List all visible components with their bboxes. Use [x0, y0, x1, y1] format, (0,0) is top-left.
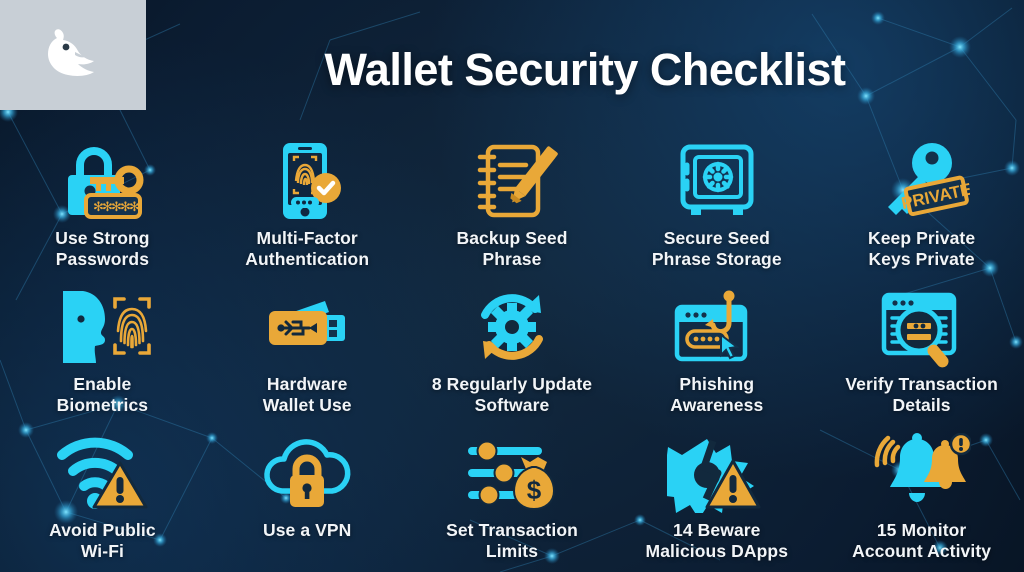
checklist-item-label: Secure Seed Phrase Storage [652, 228, 782, 271]
checklist-item-verify-transaction-details[interactable]: Verify Transaction Details [819, 280, 1024, 426]
checklist-item-monitor-account-activity[interactable]: 15 Monitor Account Activity [819, 426, 1024, 572]
checklist-item-label: Use Strong Passwords [55, 228, 149, 271]
checklist-item-set-transaction-limits[interactable]: $ Set Transaction Limits [410, 426, 615, 572]
brand-logo [0, 0, 146, 110]
face-fingerprint-scan-icon [53, 284, 151, 370]
checklist-item-label: Backup Seed Phrase [456, 228, 567, 271]
checklist-item-label: Use a VPN [263, 520, 351, 541]
notebook-pencil-icon [466, 138, 558, 224]
checklist-item-label: Hardware Wallet Use [263, 374, 352, 417]
gear-refresh-icon [467, 284, 557, 370]
checklist-item-label: Keep Private Keys Private [868, 228, 975, 271]
checklist-item-label: 8 Regularly Update Software [432, 374, 592, 417]
checklist-item-beware-malicious-dapps[interactable]: 14 Beware Malicious DApps [614, 426, 819, 572]
checklist-item-label: Avoid Public Wi-Fi [49, 520, 156, 563]
phone-fingerprint-check-icon [263, 138, 351, 224]
checklist-item-regularly-update-software[interactable]: 8 Regularly Update Software [410, 280, 615, 426]
usb-hardware-wallet-icon [259, 284, 355, 370]
infographic-canvas: Wallet Security Checklist ✻✻✻✻✻ Use [0, 0, 1024, 572]
checklist-item-keep-private-keys-private[interactable]: PRIVATE Keep Private Keys Private [819, 134, 1024, 280]
checklist-item-label: 15 Monitor Account Activity [852, 520, 991, 563]
key-private-stamp-icon: PRIVATE [874, 138, 970, 224]
broken-gear-warning-icon [667, 430, 767, 516]
checklist-item-label: Enable Biometrics [57, 374, 148, 417]
checklist-item-hardware-wallet-use[interactable]: Hardware Wallet Use [205, 280, 410, 426]
lock-key-password-icon: ✻✻✻✻✻ [56, 138, 148, 224]
checklist-grid: ✻✻✻✻✻ Use Strong Passwords [0, 134, 1024, 572]
checklist-item-label: Verify Transaction Details [845, 374, 998, 417]
checklist-item-use-a-vpn[interactable]: Use a VPN [205, 426, 410, 572]
checklist-item-enable-biometrics[interactable]: Enable Biometrics [0, 280, 205, 426]
safe-vault-icon [673, 138, 761, 224]
cloud-lock-icon [260, 430, 354, 516]
svg-text:✻: ✻ [129, 199, 140, 214]
checklist-item-label: Phishing Awareness [670, 374, 763, 417]
checklist-item-label: 14 Beware Malicious DApps [646, 520, 789, 563]
eagle-head-icon [41, 27, 105, 83]
svg-text:$: $ [527, 475, 542, 505]
browser-magnifier-icon [874, 284, 970, 370]
checklist-item-multi-factor-authentication[interactable]: Multi-Factor Authentication [205, 134, 410, 280]
browser-fish-hook-icon [669, 284, 765, 370]
checklist-item-phishing-awareness[interactable]: Phishing Awareness [614, 280, 819, 426]
sliders-money-bag-icon: $ [462, 430, 562, 516]
wifi-warning-icon [54, 430, 150, 516]
checklist-item-backup-seed-phrase[interactable]: Backup Seed Phrase [410, 134, 615, 280]
checklist-item-label: Multi-Factor Authentication [245, 228, 369, 271]
checklist-item-use-strong-passwords[interactable]: ✻✻✻✻✻ Use Strong Passwords [0, 134, 205, 280]
checklist-item-avoid-public-wifi[interactable]: Avoid Public Wi-Fi [0, 426, 205, 572]
checklist-item-label: Set Transaction Limits [446, 520, 578, 563]
bell-alert-icon [873, 430, 971, 516]
page-title: Wallet Security Checklist [146, 44, 1024, 96]
checklist-item-secure-seed-phrase-storage[interactable]: Secure Seed Phrase Storage [614, 134, 819, 280]
